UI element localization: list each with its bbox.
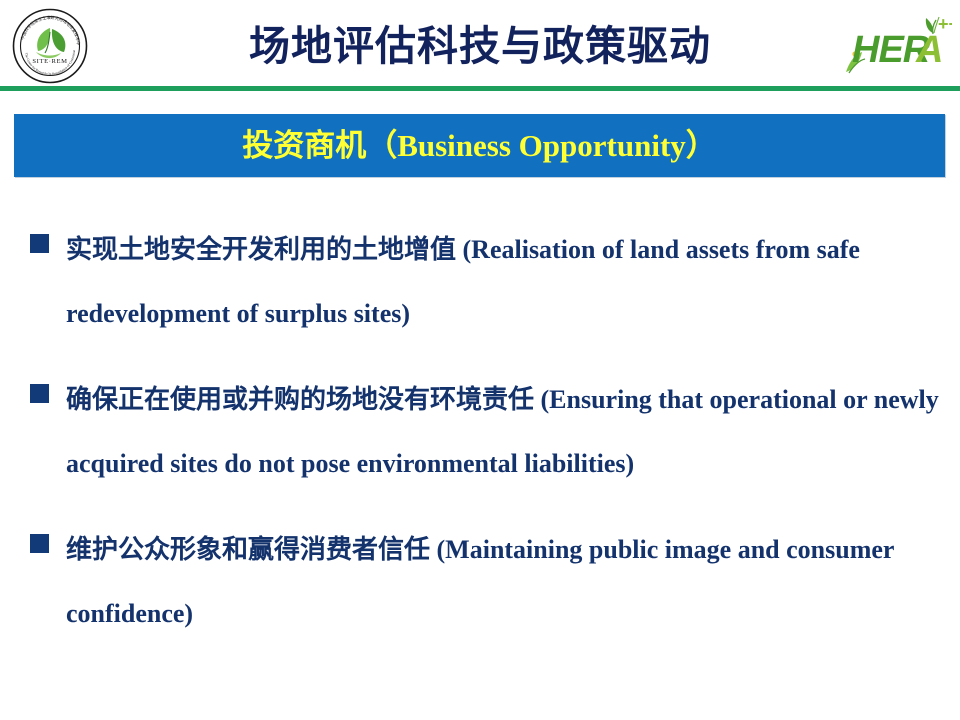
list-item-text: 实现土地安全开发利用的土地增值 (Realisation of land ass… bbox=[66, 218, 944, 346]
hera-superscript: ++ bbox=[938, 14, 952, 34]
square-bullet-icon bbox=[30, 534, 49, 553]
list-item: 实现土地安全开发利用的土地增值 (Realisation of land ass… bbox=[0, 218, 960, 346]
list-item: 确保正在使用或并购的场地没有环境责任 (Ensuring that operat… bbox=[0, 368, 960, 496]
square-bullet-icon bbox=[30, 384, 49, 403]
list-item: 维护公众形象和赢得消费者信任 (Maintaining public image… bbox=[0, 518, 960, 646]
site-rem-seal-logo: SITE·REM 中国科学院南京土壤研究所场地修复技术中心 The Center… bbox=[12, 8, 88, 84]
list-item-text-cn: 维护公众形象和赢得消费者信任 bbox=[66, 535, 430, 565]
banner-title-en: （Business Opportunity） bbox=[366, 128, 717, 163]
list-item-text-cn: 实现土地安全开发利用的土地增值 bbox=[66, 235, 456, 265]
banner-title-cn: 投资商机 bbox=[242, 128, 366, 164]
header-divider-rule bbox=[0, 86, 960, 91]
page-title: 场地评估科技与政策驱动 bbox=[150, 8, 810, 84]
svg-text:A: A bbox=[915, 29, 943, 71]
bullet-list: 实现土地安全开发利用的土地增值 (Realisation of land ass… bbox=[0, 218, 960, 668]
slide-header: SITE·REM 中国科学院南京土壤研究所场地修复技术中心 The Center… bbox=[0, 0, 960, 89]
section-banner: 投资商机（Business Opportunity） bbox=[14, 114, 945, 177]
list-item-text-cn: 确保正在使用或并购的场地没有环境责任 bbox=[66, 385, 534, 415]
list-item-text: 确保正在使用或并购的场地没有环境责任 (Ensuring that operat… bbox=[66, 368, 944, 496]
hera-plus-plus-logo: HER A ++ bbox=[840, 6, 952, 82]
list-item-text: 维护公众形象和赢得消费者信任 (Maintaining public image… bbox=[66, 518, 944, 646]
section-banner-text: 投资商机（Business Opportunity） bbox=[14, 114, 945, 177]
square-bullet-icon bbox=[30, 234, 49, 253]
svg-text:SITE·REM: SITE·REM bbox=[32, 58, 67, 65]
